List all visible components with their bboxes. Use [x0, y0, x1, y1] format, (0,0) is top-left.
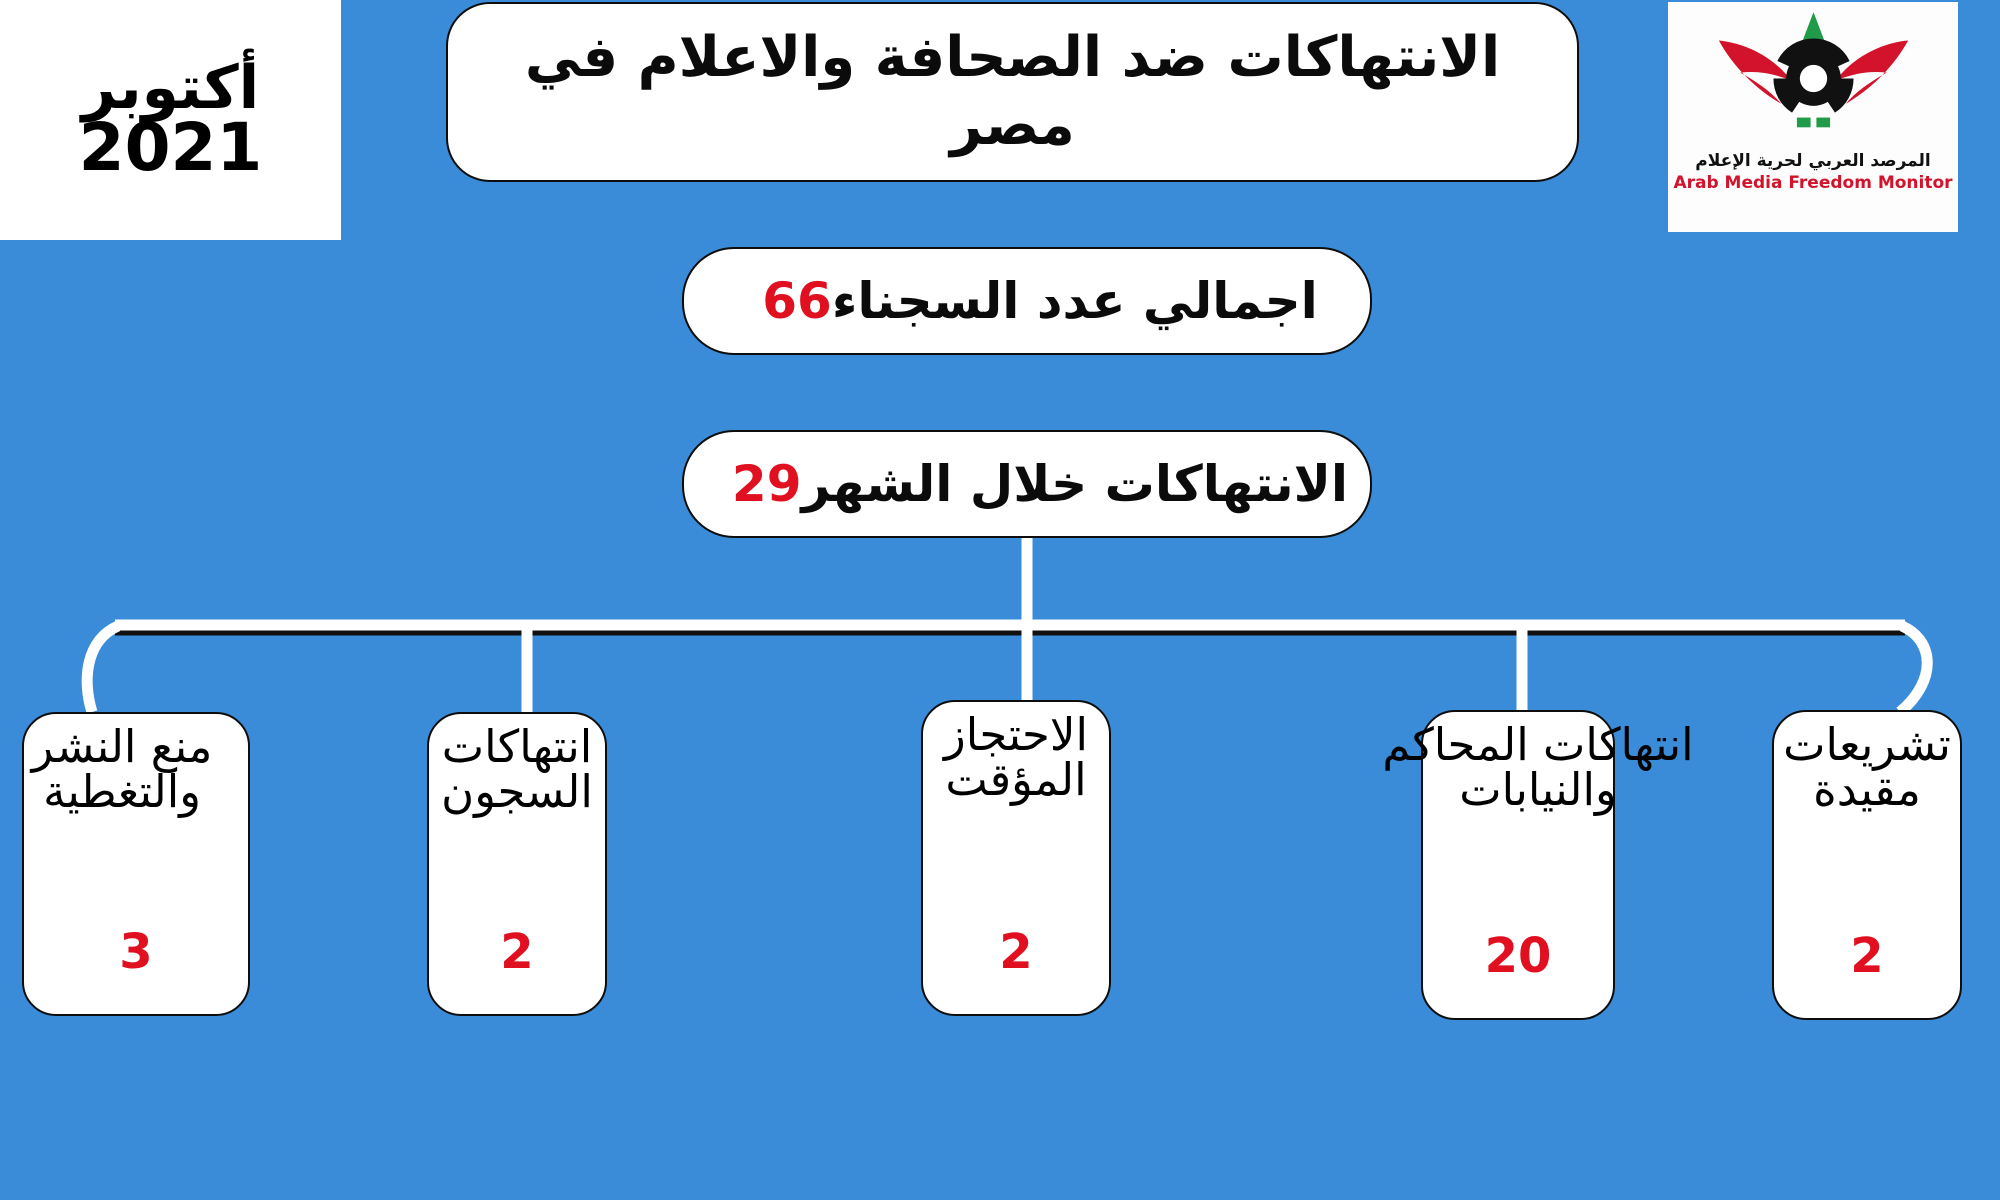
monthly-violations-label: الانتهاكات خلال الشهر	[802, 455, 1349, 513]
organization-logo: المرصد العربي لحرية الإعلام Arab Media F…	[1668, 2, 1958, 232]
category-label-line2: السجون	[441, 769, 593, 814]
category-label-line1: الاحتجاز	[944, 712, 1088, 757]
total-prisoners-box: اجمالي عدد السجناء 66	[682, 247, 1372, 355]
logo-arabic-name: المرصد العربي لحرية الإعلام	[1695, 151, 1931, 171]
category-label-line1: انتهاكات المحاكم	[1382, 722, 1693, 767]
category-label-line2: والتغطية	[43, 769, 201, 814]
category-value: 3	[24, 924, 248, 980]
category-label-line2: مقيدة	[1813, 767, 1921, 812]
category-box-temporary-detention: الاحتجاز المؤقت 2	[921, 700, 1111, 1016]
page-title-text: الانتهاكات ضد الصحافة والاعلام في مصر	[474, 24, 1551, 161]
monthly-violations-value: 29	[732, 455, 802, 513]
category-label-line2: والنيابات	[1459, 767, 1616, 812]
category-value: 2	[1774, 928, 1960, 984]
date-plate: أكتوبر 2021	[0, 0, 341, 240]
category-label-line2: المؤقت	[945, 757, 1086, 802]
category-value: 20	[1423, 928, 1613, 984]
category-box-restrictive-legislation: تشريعات مقيدة 2	[1772, 710, 1962, 1020]
category-value: 2	[429, 924, 605, 980]
total-prisoners-value: 66	[762, 272, 832, 330]
total-prisoners-label: اجمالي عدد السجناء	[832, 272, 1318, 330]
category-box-prison-violations: انتهاكات السجون 2	[427, 712, 607, 1016]
category-box-court-prosecution-violations: انتهاكات المحاكم والنيابات 20	[1421, 710, 1615, 1020]
category-label-line1: تشريعات	[1783, 722, 1951, 767]
category-value: 2	[923, 924, 1109, 980]
monthly-violations-box: الانتهاكات خلال الشهر 29	[682, 430, 1372, 538]
date-year: 2021	[79, 117, 263, 180]
infographic-canvas: أكتوبر 2021 الانتهاكات ضد الصحافة والاعل…	[0, 0, 2000, 1200]
category-label-line1: منع النشر	[32, 724, 213, 769]
media-monitor-logo-icon	[1711, 8, 1916, 150]
page-title: الانتهاكات ضد الصحافة والاعلام في مصر	[446, 2, 1579, 182]
logo-english-name: Arab Media Freedom Monitor	[1673, 173, 1952, 193]
category-label-line1: انتهاكات	[442, 724, 593, 769]
category-box-publication-ban: منع النشر والتغطية 3	[22, 712, 250, 1016]
